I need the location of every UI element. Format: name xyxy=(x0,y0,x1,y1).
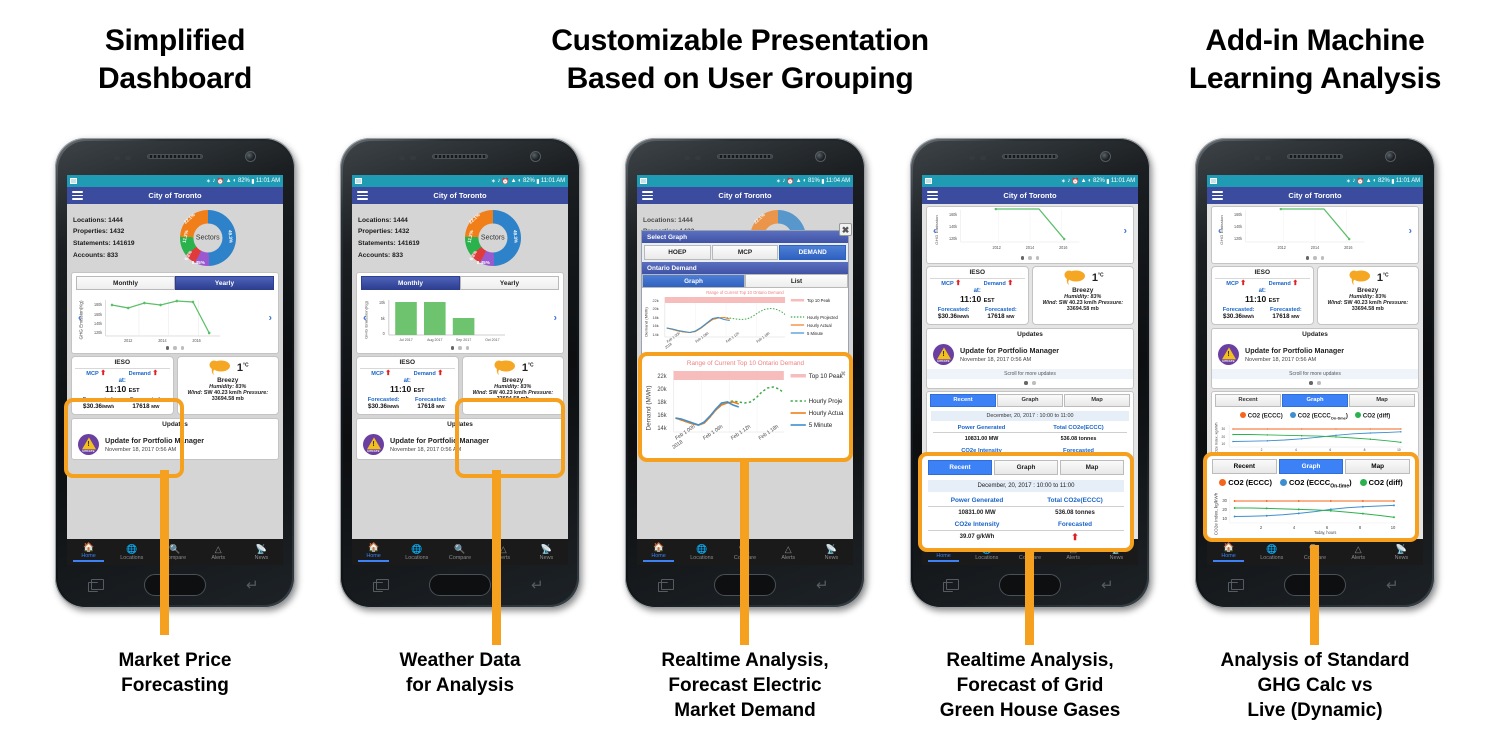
sensor-icon xyxy=(969,156,975,160)
weather-condition: Breezy xyxy=(1036,287,1131,294)
phone-1-screen: ✶ ♪ ⏰ ▲ ◐ 82% ▮ 11:01 AM City of Toronto xyxy=(67,175,283,565)
back-key[interactable]: ↵ xyxy=(246,581,260,591)
arrow-up-icon: ⬆ xyxy=(1075,459,1082,468)
ieso-card[interactable]: IESO MCP ⬆ Demand ⬆ at: 11:10 EST Foreca… xyxy=(71,356,174,415)
hamburger-icon[interactable] xyxy=(1212,191,1223,202)
legend-co2-eccc-ontime: CO2 (ECCCOn-time) xyxy=(1290,412,1348,421)
ieso-header: IESO xyxy=(360,359,455,369)
clock: 11:01 AM xyxy=(256,178,280,184)
weather-condition: Breezy xyxy=(1321,287,1416,294)
nav-home[interactable]: 🏠Home xyxy=(922,542,965,561)
nav-alerts[interactable]: △Alerts xyxy=(767,544,810,561)
view-graph[interactable]: Graph xyxy=(642,274,745,288)
svg-text:160k: 160k xyxy=(1234,212,1242,217)
caption-3: Realtime Analysis, Forecast Electric Mar… xyxy=(635,648,855,723)
arrow-up-icon: ⬆ xyxy=(385,370,391,377)
recent-apps-key[interactable] xyxy=(91,579,104,590)
svg-text:2014: 2014 xyxy=(158,338,167,343)
dot-1[interactable] xyxy=(1306,256,1310,260)
svg-text:180k: 180k xyxy=(94,302,102,307)
phone-1-top-bezel xyxy=(58,141,292,175)
update-badge-word: UPDATE xyxy=(367,449,380,453)
rss-icon: 📡 xyxy=(240,544,283,555)
sectors-donut-chart[interactable]: Sectors 49.3% 8.45% 6.8% 11.2% 22.1% xyxy=(139,210,277,266)
status-bar: ✶ ♪ ⏰ ▲ ◐ 82% ▮ 11:01 AM xyxy=(352,175,568,187)
svg-text:16k: 16k xyxy=(652,323,658,328)
graph-type-tabs[interactable]: HOEP MCP DEMAND xyxy=(642,243,848,262)
summary-stats-row: Locations: 1444 Properties: 1432 Stateme… xyxy=(67,204,283,270)
weather-temperature: 1°C xyxy=(1092,272,1104,284)
graph-list-toggle[interactable]: Graph List xyxy=(642,274,848,288)
svg-text:8: 8 xyxy=(1364,448,1366,452)
svg-text:CO2e Index, kg/kWh: CO2e Index, kg/kWh xyxy=(1215,423,1219,456)
tab-recent[interactable]: Recent xyxy=(930,394,996,407)
signal-icon: ◐ xyxy=(803,178,807,184)
dot-1[interactable] xyxy=(1024,381,1028,385)
tab-yearly[interactable]: Yearly xyxy=(460,276,559,290)
update-badge-word: UPDATE xyxy=(937,359,950,363)
weather-condition: Breezy xyxy=(181,377,276,384)
nav-home[interactable]: 🏠Home xyxy=(352,542,395,561)
tab-recent[interactable]: Recent xyxy=(1215,394,1281,407)
signal-icon: ◐ xyxy=(233,178,237,184)
ieso-card[interactable]: IESO MCP ⬆ Demand ⬆ at: 11:10 EST Foreca… xyxy=(356,356,459,415)
svg-text:18k: 18k xyxy=(652,315,658,320)
svg-text:GHG Emission(Kg): GHG Emission(Kg) xyxy=(79,300,84,340)
carousel-dots[interactable] xyxy=(1212,254,1418,263)
stat-accounts: Accounts: 833 xyxy=(358,250,420,262)
hamburger-icon[interactable] xyxy=(72,191,83,202)
dot-1[interactable] xyxy=(451,346,455,350)
svg-text:120k: 120k xyxy=(949,236,957,241)
tab-graph[interactable]: Graph xyxy=(997,394,1063,407)
arrow-up-icon: ⬆ xyxy=(152,370,158,377)
nav-news[interactable]: 📡News xyxy=(1380,544,1423,561)
updates-header: Updates xyxy=(1212,329,1418,341)
rss-icon: 📡 xyxy=(1095,544,1138,555)
section-header-1: Simplified Dashboard xyxy=(40,22,310,99)
warning-triangle-icon: △ xyxy=(197,544,240,555)
update-badge-icon: ! UPDATE xyxy=(933,344,954,365)
nav-news[interactable]: 📡News xyxy=(240,544,283,561)
battery-percent: 82% xyxy=(238,178,250,184)
ieso-demand-value: 17618 MW xyxy=(985,313,1017,320)
section-header-3-line2: Learning Analysis xyxy=(1140,60,1490,98)
recent-apps-key[interactable] xyxy=(661,579,674,590)
ghg-chart-card: Monthly Yearly ‹ › GHG Emission(Kg) 180k… xyxy=(71,272,279,354)
svg-text:GHG Emission(Kg): GHG Emission(Kg) xyxy=(364,300,369,339)
svg-text:120k: 120k xyxy=(1234,236,1242,241)
nav-locations[interactable]: 🌐Locations xyxy=(680,544,723,561)
alarm-icon: ⏰ xyxy=(1072,178,1079,185)
sensor-icon xyxy=(980,156,986,160)
kv-co2e-intensity: CO2e Intensity 39.07 g/kWh xyxy=(933,448,1030,468)
status-bar: ✶ ♪ ⏰ ▲ ◐ 82% ▮ 11:01 AM xyxy=(67,175,283,187)
svg-text:10k: 10k xyxy=(379,300,385,305)
kv-total-co2e: Total CO2e(ECCC) 536.08 tonnes xyxy=(1030,425,1127,442)
updates-dots[interactable] xyxy=(927,379,1133,388)
rss-icon: 📡 xyxy=(810,544,853,555)
nav-alerts[interactable]: △Alerts xyxy=(1337,544,1380,561)
stat-locations: Locations: 1444 xyxy=(73,215,135,227)
dot-3[interactable] xyxy=(466,346,470,350)
nav-locations[interactable]: 🌐Locations xyxy=(1250,544,1293,561)
co2-legend: CO2 (ECCC) CO2 (ECCCOn-time) CO2 (diff) xyxy=(1212,409,1418,422)
alarm-icon: ⏰ xyxy=(217,178,224,185)
news-item[interactable]: Last chance! Share your ideas by tme, Fr… xyxy=(642,392,848,427)
carousel-dots[interactable] xyxy=(927,254,1133,263)
tab-yearly[interactable]: Yearly xyxy=(175,276,274,290)
svg-text:Sep 2017: Sep 2017 xyxy=(456,338,471,342)
dot-2[interactable] xyxy=(173,346,177,350)
updates-header: Updates xyxy=(927,329,1133,341)
section-header-3: Add-in Machine Learning Analysis xyxy=(1140,22,1490,99)
nav-locations[interactable]: 🌐Locations xyxy=(110,544,153,561)
dot-2[interactable] xyxy=(458,346,462,350)
donut-slice-label-0: 49.3% xyxy=(227,230,233,243)
donut-center-label: Sectors xyxy=(196,235,220,242)
ghg-grid-svg: GHG Emission 160k 140k 120k xyxy=(931,208,1129,254)
dot-2[interactable] xyxy=(1028,256,1032,260)
signal-icon: ◐ xyxy=(1373,178,1377,184)
section-header-1-line1: Simplified xyxy=(40,22,310,60)
front-camera-icon xyxy=(1385,151,1396,162)
wifi-icon: ▲ xyxy=(511,178,517,184)
svg-text:140k: 140k xyxy=(94,321,102,326)
svg-text:160k: 160k xyxy=(949,212,957,217)
nav-home[interactable]: 🏠Home xyxy=(67,542,110,561)
ieso-time: 11:10 EST xyxy=(1215,294,1310,304)
hamburger-icon[interactable] xyxy=(642,191,653,202)
stat-properties: Properties: 1432 xyxy=(358,226,420,238)
svg-text:2018: 2018 xyxy=(664,342,673,350)
bottom-navigation: 🏠Home 🌐Locations 🔍Compare △Alerts 📡News xyxy=(352,539,568,565)
phone-2-screen: ✶ ♪ ⏰ ▲ ◐ 82% ▮ 11:01 AM City of Toronto xyxy=(352,175,568,565)
sensor-icon xyxy=(1265,156,1271,160)
svg-text:160k: 160k xyxy=(94,312,102,317)
home-key[interactable] xyxy=(144,574,206,596)
arrow-up-icon: ⬆ xyxy=(100,370,106,377)
battery-icon: ▮ xyxy=(536,178,539,185)
news-timestamp: 20 minutes ago xyxy=(647,415,843,422)
ontario-demand-subtitle: Ontario Demand xyxy=(642,262,848,274)
update-item[interactable]: ! UPDATE Update for Portfolio Manager No… xyxy=(357,430,563,459)
back-key[interactable]: ↵ xyxy=(1386,581,1400,591)
battery-percent: 81% xyxy=(808,178,820,184)
dot-1[interactable] xyxy=(1021,256,1025,260)
hamburger-icon[interactable] xyxy=(927,191,938,202)
caption-2: Weather Data for Analysis xyxy=(350,648,570,698)
nav-home[interactable]: 🏠Home xyxy=(637,542,680,561)
mute-icon: ♪ xyxy=(497,178,500,184)
bluetooth-icon: ✶ xyxy=(1061,178,1066,185)
ieso-mcp-value: $30.36/MWh xyxy=(938,313,970,320)
phone-4-screen: ✶ ♪ ⏰ ▲ ◐ 82% ▮ 11:01 AM City of Toronto xyxy=(922,175,1138,565)
earpiece-speaker xyxy=(432,154,488,159)
cloud-sun-icon xyxy=(1347,269,1373,287)
carousel-dots[interactable] xyxy=(72,344,278,353)
wifi-icon: ▲ xyxy=(796,178,802,184)
carousel-dots[interactable] xyxy=(357,344,563,353)
phone-4-top-bezel xyxy=(913,141,1147,175)
globe-icon: 🌐 xyxy=(395,544,438,555)
ieso-demand-label: Demand ⬆ xyxy=(984,281,1014,287)
kv-power-generated: Power Generated 10831.00 MW xyxy=(933,425,1030,442)
bluetooth-icon: ✶ xyxy=(776,178,781,185)
co2-ml-svg: CO2e Index, kg/kWh 30 20 10 xyxy=(1212,421,1418,457)
home-key[interactable] xyxy=(429,574,491,596)
update-date: November 18, 2017 0:56 AM xyxy=(1245,357,1344,363)
dot-3[interactable] xyxy=(1036,256,1040,260)
page-title: City of Toronto xyxy=(1207,191,1423,200)
ontario-demand-chart: Range of Current Top 10 Ontario Demand D… xyxy=(642,288,848,354)
updates-header: Updates xyxy=(357,419,563,431)
callout-pointer-4 xyxy=(1025,545,1034,645)
mute-icon: ♪ xyxy=(1352,178,1355,184)
globe-icon: 🌐 xyxy=(680,544,723,555)
weather-card[interactable]: 1°C Breezy Humidity: 83% Wind: SW 40.23 … xyxy=(1032,266,1135,325)
nav-news[interactable]: 📡News xyxy=(525,544,568,561)
sensor-icon xyxy=(1254,156,1260,160)
earpiece-speaker xyxy=(1287,154,1343,159)
cloud-sun-icon xyxy=(1062,269,1088,287)
ghg-grid-svg: GHG Emission 160k 140k 120k xyxy=(1216,208,1414,254)
signal-icon: ◐ xyxy=(518,178,522,184)
weather-pressure-value: 33694.58 mb xyxy=(1321,306,1416,312)
close-icon[interactable]: ✖ xyxy=(839,223,852,236)
updates-card: Updates ! UPDATE Update for Portfolio Ma… xyxy=(1211,328,1419,389)
phone-5-top-bezel xyxy=(1198,141,1432,175)
co2-ml-chart: CO2e Index, kg/kWh 30 20 10 xyxy=(1212,421,1418,457)
caption-1: Market Price Forecasting xyxy=(65,648,285,698)
tab-hoep[interactable]: HOEP xyxy=(644,245,711,260)
nav-locations[interactable]: 🌐Locations xyxy=(965,544,1008,561)
select-graph-dialog: ✖ Select Graph HOEP MCP DEMAND Ontario D… xyxy=(641,230,849,355)
svg-text:Feb 1 00h: Feb 1 00h xyxy=(666,331,681,344)
ieso-demand-label: Demand ⬆ xyxy=(1269,281,1299,287)
section-header-2-line1: Customizable Presentation xyxy=(430,22,1050,60)
weather-temperature: 1°C xyxy=(237,362,249,374)
update-badge-word: UPDATE xyxy=(82,449,95,453)
slide-canvas: Simplified Dashboard Customizable Presen… xyxy=(0,0,1500,737)
stat-locations: Locations: 1444 xyxy=(643,215,705,227)
section-header-3-line1: Add-in Machine xyxy=(1140,22,1490,60)
ghg-grid-chart: ‹ › GHG Emission 160k 140k 120k xyxy=(931,208,1129,254)
status-bar: ✶ ♪ ⏰ ▲ ◐ 82% ▮ 11:01 AM xyxy=(922,175,1138,187)
weather-temperature: 1°C xyxy=(522,362,534,374)
sensor-icon xyxy=(410,156,416,160)
summary-stats: Locations: 1444 Properties: 1432 Stateme… xyxy=(73,215,135,262)
warning-triangle-icon: △ xyxy=(1052,544,1095,555)
callout-pointer-1 xyxy=(160,470,169,635)
back-key[interactable]: ↵ xyxy=(816,581,830,591)
update-item[interactable]: ! UPDATE Update for Portfolio Manager No… xyxy=(927,340,1133,369)
globe-icon: 🌐 xyxy=(965,544,1008,555)
bluetooth-icon: ✶ xyxy=(1346,178,1351,185)
sensor-icon xyxy=(695,156,701,160)
weather-card[interactable]: 1°C Breezy Humidity: 83% Wind: SW 40.23 … xyxy=(177,356,280,415)
app-bar: City of Toronto xyxy=(67,187,283,204)
stat-statements: Statements: 141619 xyxy=(73,238,135,250)
gallery-icon xyxy=(925,178,932,184)
svg-text:Jul 2017: Jul 2017 xyxy=(399,338,413,342)
nav-alerts[interactable]: △Alerts xyxy=(1052,544,1095,561)
weather-card[interactable]: 1°C Breezy Humidity: 83% Wind: SW 40.23 … xyxy=(462,356,565,415)
section-header-2: Customizable Presentation Based on User … xyxy=(430,22,1050,99)
sensor-icon xyxy=(399,156,405,160)
phone-1: ✶ ♪ ⏰ ▲ ◐ 82% ▮ 11:01 AM City of Toronto xyxy=(55,138,295,608)
ieso-mcp-value: $30.36/MWh xyxy=(83,403,115,410)
update-title: Update for Portfolio Manager xyxy=(1245,346,1344,355)
sensor-icon xyxy=(114,156,120,160)
hamburger-icon[interactable] xyxy=(357,191,368,202)
home-icon: 🏠 xyxy=(637,542,680,553)
dot-1[interactable] xyxy=(1309,381,1313,385)
tab-map[interactable]: Map xyxy=(1064,394,1130,407)
mute-icon: ♪ xyxy=(1067,178,1070,184)
ieso-weather-row: IESO MCP ⬆ Demand ⬆ at: 11:10 EST Foreca… xyxy=(356,356,564,415)
ghg-yearly-chart: ‹ › GHG Emission(Kg) 180k 160k 140k 120k xyxy=(76,292,274,344)
scroll-hint: Scroll for more updates xyxy=(1212,369,1418,379)
callout-pointer-5 xyxy=(1310,545,1319,645)
dot-3[interactable] xyxy=(1321,256,1325,260)
page-title: City of Toronto xyxy=(67,191,283,200)
svg-text:2014: 2014 xyxy=(1026,245,1035,250)
svg-text:2016: 2016 xyxy=(192,338,201,343)
rss-icon: 📡 xyxy=(525,544,568,555)
ieso-mcp-label: MCP ⬆ xyxy=(371,371,391,377)
nav-alerts[interactable]: △Alerts xyxy=(482,544,525,561)
wifi-icon: ▲ xyxy=(1366,178,1372,184)
updates-dots[interactable] xyxy=(1212,379,1418,388)
ieso-mcp-label: MCP ⬆ xyxy=(941,281,961,287)
tab-mcp[interactable]: MCP xyxy=(712,245,779,260)
back-key[interactable]: ↵ xyxy=(531,581,545,591)
battery-percent: 82% xyxy=(1378,178,1390,184)
ghg-grid-chart-card: ‹ › GHG Emission 160k 140k 120k xyxy=(1211,206,1419,264)
stat-locations: Locations: 1444 xyxy=(358,215,420,227)
ontario-demand-svg: Range of Current Top 10 Ontario Demand D… xyxy=(642,288,848,354)
svg-text:5 Minute: 5 Minute xyxy=(807,331,824,336)
donut-slice-label-1: 8.45% xyxy=(477,260,490,265)
recent-apps-key[interactable] xyxy=(1231,579,1244,590)
app-bar: City of Toronto xyxy=(1207,187,1423,204)
ieso-mcp-label: MCP ⬆ xyxy=(86,371,106,377)
svg-text:2012: 2012 xyxy=(124,338,133,343)
co2-ml-card: Recent Graph Map CO2 (ECCC) CO2 (ECCCOn-… xyxy=(1211,391,1419,459)
view-list[interactable]: List xyxy=(745,274,848,288)
scroll-hint: Scroll for more updates xyxy=(927,369,1133,379)
update-item[interactable]: ! UPDATE Update for Portfolio Manager No… xyxy=(1212,340,1418,369)
back-key[interactable]: ↵ xyxy=(1101,581,1115,591)
tab-map[interactable]: Map xyxy=(1349,394,1415,407)
ghg-grid-chart-card: ‹ › GHG Emission 160k 140k 120k xyxy=(926,206,1134,264)
clock: 11:01 AM xyxy=(1396,178,1420,184)
nav-news[interactable]: 📡News xyxy=(1095,544,1138,561)
update-title: Update for Portfolio Manager xyxy=(960,346,1059,355)
page-title: City of Toronto xyxy=(637,191,853,200)
gallery-icon xyxy=(70,178,77,184)
svg-text:Hourly Actual: Hourly Actual xyxy=(807,323,832,328)
dot-2[interactable] xyxy=(1313,256,1317,260)
callout-pointer-3 xyxy=(740,455,749,645)
battery-icon: ▮ xyxy=(821,178,824,185)
recent-apps-key[interactable] xyxy=(376,579,389,590)
weather-card[interactable]: 1°C Breezy Humidity: 83% Wind: SW 40.23 … xyxy=(1317,266,1420,325)
donut-slice-label-3: 11.2% xyxy=(181,230,189,244)
page-title: City of Toronto xyxy=(352,191,568,200)
bluetooth-icon: ✶ xyxy=(491,178,496,185)
dot-2[interactable] xyxy=(1317,381,1321,385)
app-bar: City of Toronto xyxy=(922,187,1138,204)
weather-pressure-value: 33694.58 mb xyxy=(1036,306,1131,312)
svg-text:Today, hours: Today, hours xyxy=(1321,452,1340,456)
status-bar: ✶ ♪ ⏰ ▲ ◐ 82% ▮ 11:01 AM xyxy=(1207,175,1423,187)
news-text: Last chance! Share your ideas by tme, Fr… xyxy=(647,396,843,413)
ghg-period-tabs[interactable]: Monthly Yearly xyxy=(357,273,563,291)
recent-apps-key[interactable] xyxy=(946,579,959,590)
nav-compare[interactable]: 🔍Compare xyxy=(438,544,481,561)
ieso-mcp-value: $30.36/MWh xyxy=(368,403,400,410)
svg-text:Feb 1 18h: Feb 1 18h xyxy=(756,331,771,344)
search-icon: 🔍 xyxy=(438,544,481,555)
recent-graph-map-tabs[interactable]: Recent Graph Map xyxy=(927,392,1133,409)
nav-locations[interactable]: 🌐Locations xyxy=(395,544,438,561)
tab-monthly[interactable]: Monthly xyxy=(361,276,460,290)
grid-detail-card: Recent Graph Map December, 20, 2017 : 10… xyxy=(926,391,1134,474)
sectors-donut-chart[interactable]: Sectors 49.3% 8.45% 6.8% 11.2% 22.1% xyxy=(424,210,562,266)
recent-graph-map-tabs[interactable]: Recent Graph Map xyxy=(1212,392,1418,409)
svg-text:2: 2 xyxy=(1261,448,1263,452)
ghg-monthly-svg: GHG Emission(Kg) 10k 5k 0 Jul 2017 Aug 2… xyxy=(361,292,559,344)
update-badge-icon: ! UPDATE xyxy=(1218,344,1239,365)
cloud-sun-icon xyxy=(492,359,518,377)
ieso-time: 11:10 EST xyxy=(360,384,455,394)
svg-text:Demand (MWh): Demand (MWh) xyxy=(644,307,649,337)
update-date: November 18, 2017 0:56 AM xyxy=(960,357,1059,363)
svg-text:Top 10 Peak: Top 10 Peak xyxy=(807,298,831,303)
phone-4: ✶ ♪ ⏰ ▲ ◐ 82% ▮ 11:01 AM City of Toronto xyxy=(910,138,1150,608)
dot-3[interactable] xyxy=(181,346,185,350)
ieso-card[interactable]: IESO MCP ⬆ Demand ⬆ at: 11:10 EST Foreca… xyxy=(1211,266,1314,325)
svg-text:2012: 2012 xyxy=(993,245,1002,250)
ghg-grid-chart: ‹ › GHG Emission 160k 140k 120k xyxy=(1216,208,1414,254)
dot-2[interactable] xyxy=(1032,381,1036,385)
signal-icon: ◐ xyxy=(1088,178,1092,184)
donut-slice-label-4: 22.1% xyxy=(753,212,766,224)
dot-1[interactable] xyxy=(166,346,170,350)
update-date: November 18, 2017 0:56 AM xyxy=(390,447,489,453)
front-camera-icon xyxy=(1100,151,1111,162)
nav-news[interactable]: 📡News xyxy=(810,544,853,561)
nav-home[interactable]: 🏠Home xyxy=(1207,542,1250,561)
tab-demand[interactable]: DEMAND xyxy=(779,245,846,260)
page-title: City of Toronto xyxy=(922,191,1138,200)
ghg-period-tabs[interactable]: Monthly Yearly xyxy=(72,273,278,291)
warning-triangle-icon: △ xyxy=(482,544,525,555)
battery-percent: 82% xyxy=(1093,178,1105,184)
svg-text:2016: 2016 xyxy=(1059,245,1068,250)
tab-graph[interactable]: Graph xyxy=(1282,394,1348,407)
nav-alerts[interactable]: △Alerts xyxy=(197,544,240,561)
home-icon: 🏠 xyxy=(922,542,965,553)
update-item[interactable]: ! UPDATE Update for Portfolio Manager No… xyxy=(72,430,278,459)
ieso-card[interactable]: IESO MCP ⬆ Demand ⬆ at: 11:10 EST Foreca… xyxy=(926,266,1029,325)
cloud-sun-icon xyxy=(207,359,233,377)
tab-monthly[interactable]: Monthly xyxy=(76,276,175,290)
svg-text:2012: 2012 xyxy=(1278,245,1287,250)
svg-text:140k: 140k xyxy=(1234,224,1242,229)
